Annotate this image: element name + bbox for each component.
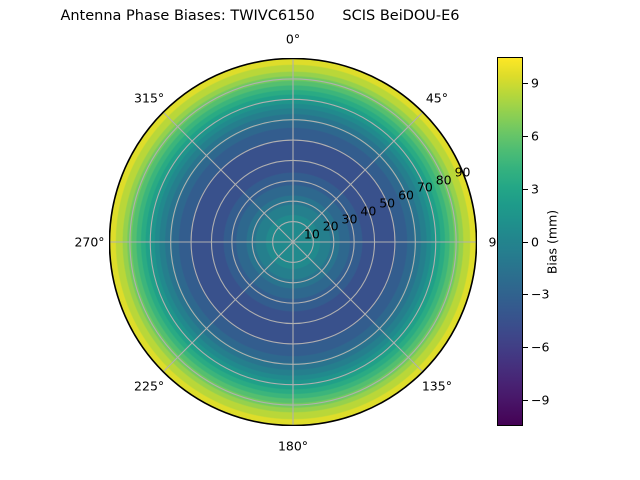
figure-canvas: Antenna Phase Biases: TWIVC6150 SCIS Bei… (0, 0, 640, 480)
colorbar-axis-label: Bias (mm) (545, 210, 560, 274)
radial-tick-label-10: 10 (304, 227, 320, 242)
polar-axes[interactable] (109, 58, 477, 426)
radial-tick-label-50: 50 (379, 195, 395, 210)
angular-tick-label-225: 225° (134, 378, 164, 393)
colorbar-tick-mark (523, 136, 528, 137)
radial-tick-label-80: 80 (436, 172, 452, 187)
chart-title: Antenna Phase Biases: TWIVC6150 SCIS Bei… (0, 8, 520, 24)
angular-tick-label-45: 45° (426, 91, 448, 106)
colorbar-tick-mark (523, 294, 528, 295)
colorbar[interactable]: 9630−3−6−9 (497, 57, 523, 426)
colorbar-tick-label: 9 (531, 76, 539, 91)
colorbar-gradient (497, 57, 523, 426)
colorbar-tick-label: −6 (531, 339, 549, 354)
radial-tick-label-30: 30 (342, 211, 358, 226)
angular-tick-label-315: 315° (134, 91, 164, 106)
radial-tick-label-20: 20 (323, 219, 339, 234)
colorbar-tick-mark (523, 400, 528, 401)
colorbar-tick-mark (523, 189, 528, 190)
angular-tick-label-0: 0° (286, 31, 300, 46)
colorbar-tick-label: 3 (531, 181, 539, 196)
colorbar-tick-mark (523, 83, 528, 84)
angular-tick-label-180: 180° (278, 438, 308, 453)
polar-gridlines (110, 59, 477, 426)
colorbar-tick-label: 0 (531, 234, 539, 249)
angular-tick-label-270: 270° (74, 235, 104, 250)
radial-tick-label-90: 90 (455, 164, 471, 179)
radial-tick-label-70: 70 (417, 180, 433, 195)
polar-plot-svg (109, 58, 477, 426)
angular-tick-label-135: 135° (422, 378, 452, 393)
radial-tick-label-60: 60 (398, 188, 414, 203)
radial-tick-label-40: 40 (360, 203, 376, 218)
colorbar-tick-mark (523, 242, 528, 243)
colorbar-tick-label: −3 (531, 287, 549, 302)
colorbar-tick-label: 6 (531, 129, 539, 144)
colorbar-tick-label: −9 (531, 392, 549, 407)
colorbar-tick-mark (523, 347, 528, 348)
